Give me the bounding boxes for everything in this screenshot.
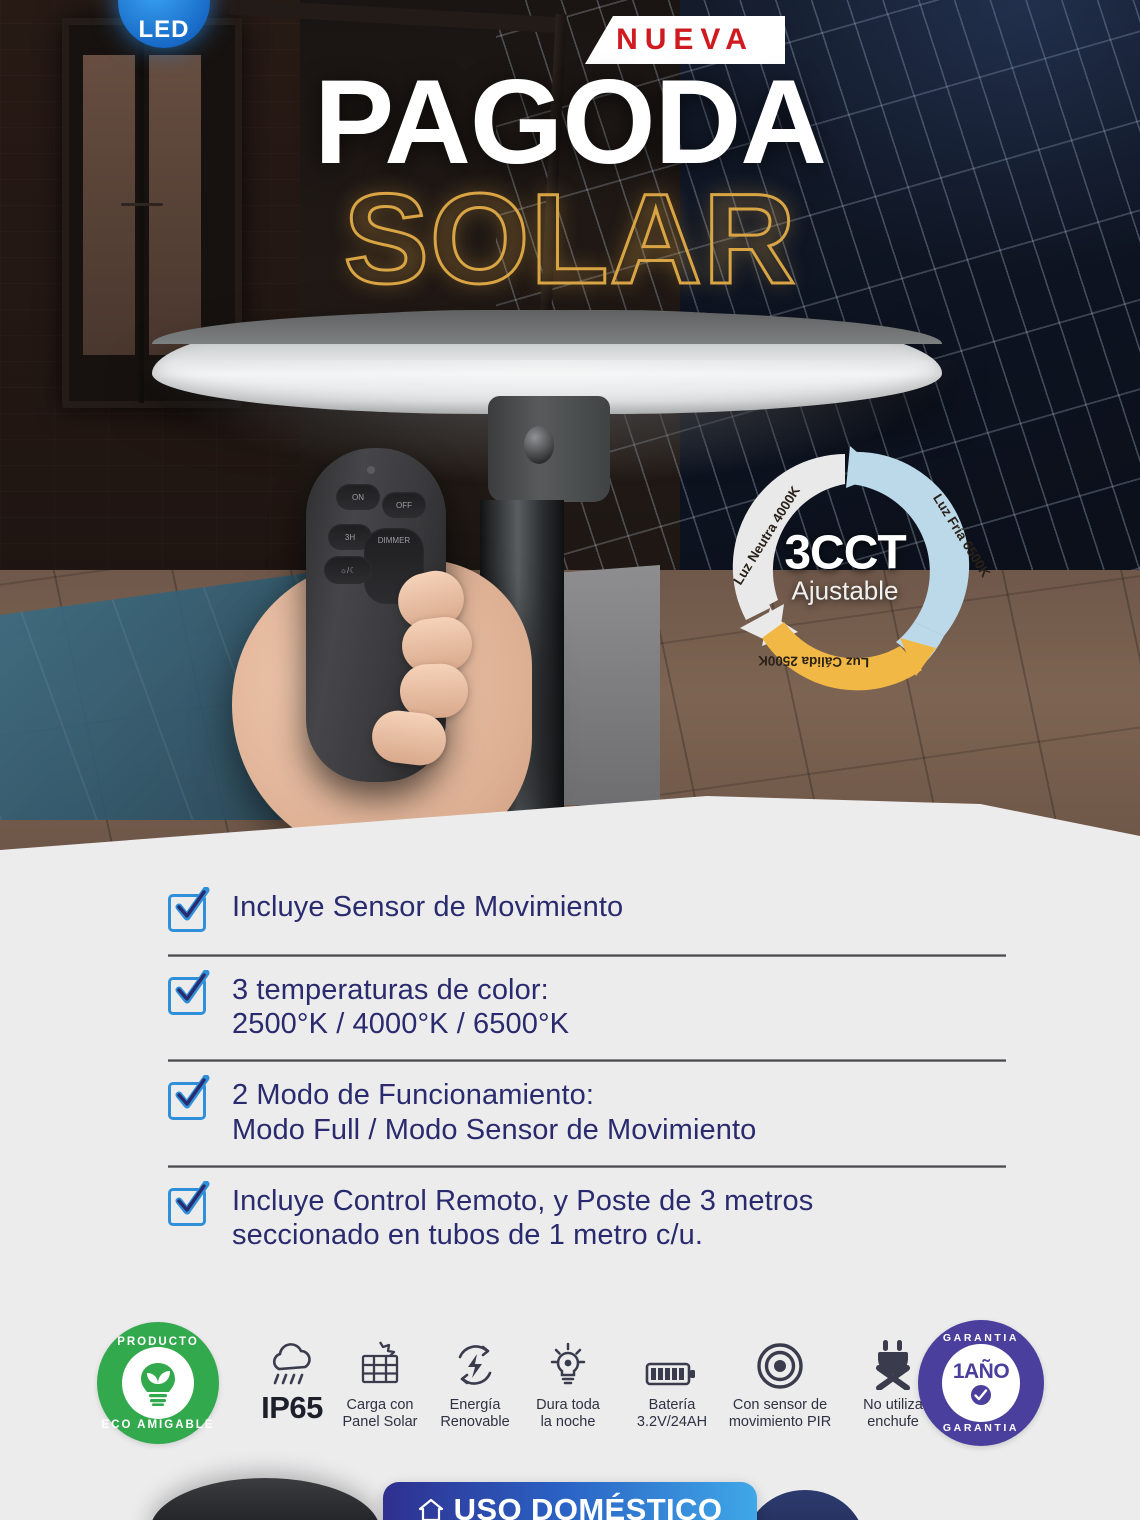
feature-line-2: Modo Full / Modo Sensor de Movimiento [232,1113,756,1147]
divider [168,1059,1006,1062]
feature-list: Incluye Sensor de Movimiento 3 temperatu… [168,878,1028,1266]
uso-domestico-banner: USO DOMÉSTICO [383,1482,757,1520]
remote-button-brightness[interactable]: ☼/☾ [324,556,372,584]
content-panel: Incluye Sensor de Movimiento 3 temperatu… [0,790,1140,1520]
spec-icon-row: PRODUCTO ECO AMIGABLE [0,1320,1140,1460]
check-circle-icon [970,1384,992,1406]
divider [168,1165,1006,1168]
list-item: Incluye Sensor de Movimiento [168,878,1028,950]
feature-text: 3 temperaturas de color: 2500°K / 4000°K… [232,973,569,1041]
warranty-center: 1AÑO [942,1344,1020,1422]
cct-title: 3CCT [750,529,940,577]
spec-all-night: Dura toda la noche [508,1332,628,1431]
product-flyer: LED NUEVA PAGODA SOLAR ON OFF 3H DIMMER … [0,0,1140,1520]
pir-sensor-icon [524,426,554,464]
cct-subtitle: Ajustable [750,577,940,604]
feature-line-1: Incluye Control Remoto, y Poste de 3 met… [232,1184,813,1218]
spec-caption: Dura toda la noche [508,1397,628,1431]
page-title: PAGODA [0,62,1140,182]
home-icon [418,1497,444,1520]
list-item: 2 Modo de Funcionamiento: Modo Full / Mo… [168,1066,1028,1160]
list-item: 3 temperaturas de color: 2500°K / 4000°K… [168,961,1028,1055]
warranty-badge: GARANTIA 1AÑO GARANTIA [918,1320,1044,1446]
list-item: Incluye Control Remoto, y Poste de 3 met… [168,1172,1028,1266]
remote-ir-led [367,466,375,474]
checkbox-checked-icon [168,977,210,1019]
feature-line-1: Incluye Sensor de Movimiento [232,890,623,924]
remote-button-on[interactable]: ON [336,484,380,510]
remote-button-off[interactable]: OFF [382,492,426,518]
cct-label-warm: Luz Cálida 2500K [758,653,869,670]
checkbox-checked-icon [168,1082,210,1124]
cct-center-text: 3CCT Ajustable [750,529,940,604]
warranty-years: 1AÑO [953,1360,1009,1384]
feature-text: Incluye Sensor de Movimiento [232,890,623,924]
spec-caption: Con sensor de movimiento PIR [707,1397,853,1431]
hero-section: LED NUEVA PAGODA SOLAR ON OFF 3H DIMMER … [0,0,1140,880]
feature-line-1: 2 Modo de Funcionamiento: [232,1078,756,1112]
warranty-bottom-text: GARANTIA [918,1422,1044,1434]
spec-line-2: movimiento PIR [707,1414,853,1431]
finger [399,663,469,719]
bulb-night-icon [508,1332,628,1390]
eco-badge-top-text: PRODUCTO [97,1336,219,1348]
feature-text: Incluye Control Remoto, y Poste de 3 met… [232,1184,813,1252]
feature-line-2: 2500°K / 4000°K / 6500°K [232,1007,569,1041]
eco-badge-bottom-text: ECO AMIGABLE [97,1419,219,1431]
nueva-label: NUEVA [616,23,754,57]
eco-badge-center [122,1347,194,1419]
warranty-top-text: GARANTIA [918,1332,1044,1344]
feature-line-2: seccionado en tubos de 1 metro c/u. [232,1218,813,1252]
led-badge-label: LED [139,16,190,48]
bulb-leaf-icon [137,1360,179,1406]
eco-friendly-badge: PRODUCTO ECO AMIGABLE [97,1322,219,1444]
spec-line-1: Con sensor de [707,1397,853,1414]
motion-sensor-icon [707,1332,853,1390]
cct-diagram: 3CCT Ajustable Luz Neutra 4000K Luz Fría… [700,432,990,702]
divider [168,954,1006,957]
checkbox-checked-icon [168,1188,210,1230]
feature-line-1: 3 temperaturas de color: [232,973,569,1007]
spec-line-2: la noche [508,1414,628,1431]
spec-pir-sensor: Con sensor de movimiento PIR [707,1332,853,1431]
page-subtitle: SOLAR [0,176,1140,304]
spec-line-1: Dura toda [508,1397,628,1414]
checkbox-checked-icon [168,894,210,936]
feature-text: 2 Modo de Funcionamiento: Modo Full / Mo… [232,1078,756,1146]
uso-domestico-label: USO DOMÉSTICO [454,1492,723,1520]
